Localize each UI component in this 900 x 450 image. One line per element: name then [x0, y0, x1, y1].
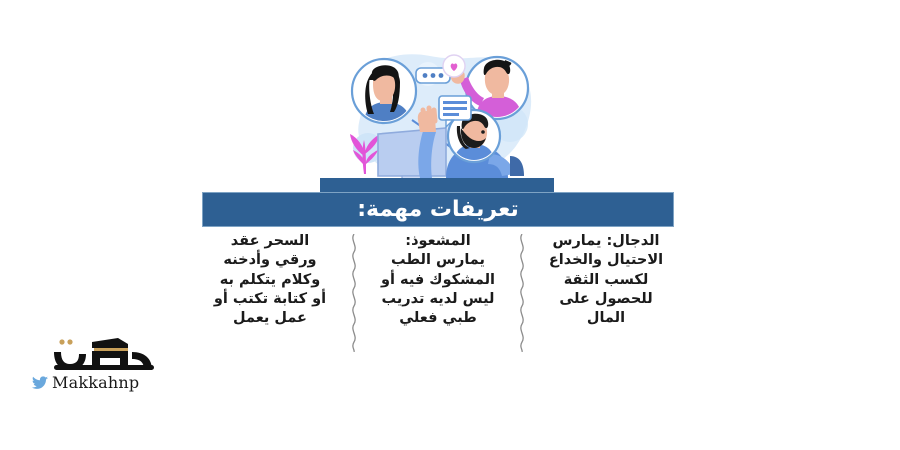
definition-line: وكلام يتكلم به [196, 271, 344, 290]
avatar-woman [352, 59, 416, 124]
page-title: تعريفات مهمة: [357, 199, 519, 221]
definition-line: أو كتابة تكتب أو [196, 290, 344, 309]
heart-icon [443, 55, 465, 77]
definition-line: عمل يعمل [196, 309, 344, 328]
monitor-icon [378, 128, 446, 184]
definition-line: المشكوك فيه أو [364, 271, 512, 290]
section-header-banner: تعريفات مهمة: [202, 192, 674, 227]
wavy-divider-icon [517, 234, 527, 352]
definition-line: الدجال: يمارس [532, 232, 680, 251]
definition-line: ورقي وأدخنه [196, 251, 344, 270]
twitter-handle[interactable]: Makkahnp [32, 375, 160, 391]
definition-column-dajjal: الدجال: يمارس الاحتيال والخداع لكسب الثق… [532, 232, 680, 328]
definition-column-mushaawidh: المشعوذ: يمارس الطب المشكوك فيه أو ليس ل… [364, 232, 512, 328]
brand-logo: Makkahnp [32, 332, 160, 398]
definition-line: طبي فعلي [364, 309, 512, 328]
definition-line: لكسب الثقة [532, 271, 680, 290]
definition-line: يمارس الطب [364, 251, 512, 270]
chair [510, 156, 524, 176]
definition-line: المال [532, 309, 680, 328]
definition-line: المشعوذ: [364, 232, 512, 251]
definition-line: السحر عقد [196, 232, 344, 251]
twitter-bird-icon [32, 376, 48, 390]
infographic-canvas: تعريفات مهمة: الدجال: يمارس الاحتيال وال… [0, 0, 900, 450]
definition-line: للحصول على [532, 290, 680, 309]
definition-line: ليس لديه تدريب [364, 290, 512, 309]
handle-text: Makkahnp [52, 375, 139, 391]
definition-line: الاحتيال والخداع [532, 251, 680, 270]
definition-column-sihr: السحر عقد ورقي وأدخنه وكلام يتكلم به أو … [196, 232, 344, 328]
wavy-divider-icon [349, 234, 359, 352]
social-networking-illustration [320, 28, 554, 196]
definitions-row: الدجال: يمارس الاحتيال والخداع لكسب الثق… [196, 232, 680, 356]
makkah-wordmark-icon [48, 332, 160, 372]
